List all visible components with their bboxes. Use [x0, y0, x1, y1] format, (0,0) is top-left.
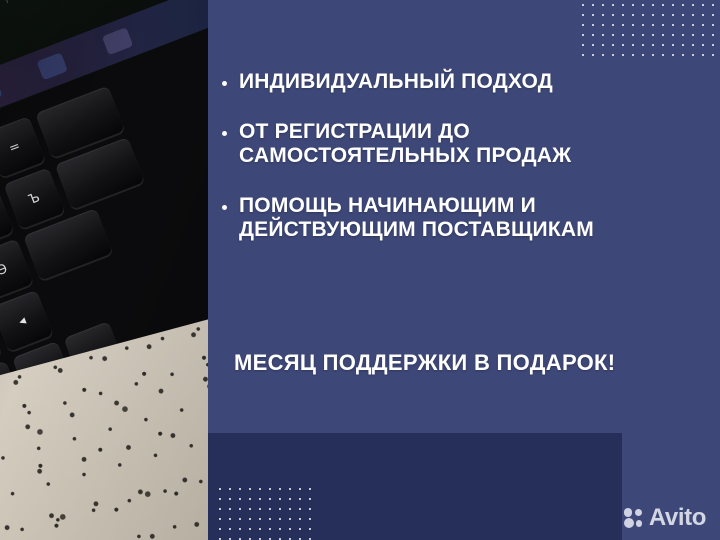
bullet-list: ИНДИВИДУАЛЬНЫЙ ПОДХОД ОТ РЕГИСТРАЦИИ ДО … — [222, 70, 702, 268]
headline-offer: МЕСЯЦ ПОДДЕРЖКИ В ПОДАРОК! — [234, 350, 615, 376]
promo-banner: 1234567890-= ЙЦУКЕНГШЩЗХЪ 7 8 9 — [0, 0, 720, 540]
avito-wordmark: Avito — [649, 506, 706, 530]
avito-dots-mark-icon — [624, 508, 644, 528]
avito-logo[interactable]: Avito — [624, 506, 706, 530]
bullet-dot-icon — [222, 131, 227, 136]
list-item: ИНДИВИДУАЛЬНЫЙ ПОДХОД — [222, 70, 702, 94]
bullet-label-1: ИНДИВИДУАЛЬНЫЙ ПОДХОД — [239, 70, 553, 94]
laptop-photo: 1234567890-= ЙЦУКЕНГШЩЗХЪ 7 8 9 — [0, 0, 210, 540]
bullet-dot-icon — [222, 81, 227, 86]
bullet-label-2: ОТ РЕГИСТРАЦИИ ДО САМОСТОЯТЕЛЬНЫХ ПРОДАЖ — [239, 120, 571, 168]
bullet-label-3: ПОМОЩЬ НАЧИНАЮЩИМ И ДЕЙСТВУЮЩИМ ПОСТАВЩИ… — [239, 194, 594, 242]
dot-grid-bottom-left-icon — [215, 484, 315, 540]
dot-grid-top-right-icon — [578, 0, 720, 58]
photo-stage: 1234567890-= ЙЦУКЕНГШЩЗХЪ 7 8 9 — [0, 0, 210, 540]
list-item: ОТ РЕГИСТРАЦИИ ДО САМОСТОЯТЕЛЬНЫХ ПРОДАЖ — [222, 120, 702, 168]
bullet-dot-icon — [222, 205, 227, 210]
list-item: ПОМОЩЬ НАЧИНАЮЩИМ И ДЕЙСТВУЮЩИМ ПОСТАВЩИ… — [222, 194, 702, 242]
